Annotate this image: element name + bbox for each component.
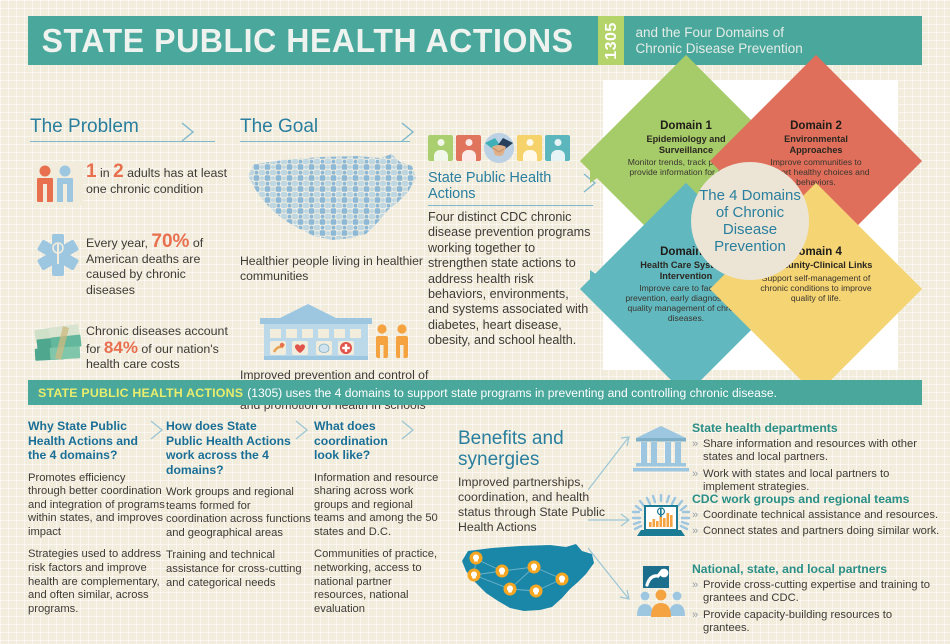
- arrow-right-icon: [400, 121, 416, 143]
- two-people-icon: [30, 162, 86, 206]
- benefits-title-line1: Benefits and: [458, 428, 608, 449]
- partner-1-title: State health departments: [692, 421, 940, 435]
- summary-banner: STATE PUBLIC HEALTH ACTIONS (1305) uses …: [28, 380, 922, 405]
- partners-people-icon: [630, 562, 692, 639]
- page-title: STATE PUBLIC HEALTH ACTIONS: [28, 16, 574, 65]
- stat-text-3: Chronic diseases account for 84% of our …: [86, 322, 230, 373]
- question-1-title: Why State Public Health Actions and the …: [28, 419, 146, 463]
- section-the-goal: The Goal: [240, 116, 430, 413]
- four-domains-diagram: Domain 1 Epidemiology and Surveillance M…: [603, 80, 898, 370]
- banner-strong-text: STATE PUBLIC HEALTH ACTIONS: [38, 386, 243, 400]
- school-building-icon: [240, 300, 430, 362]
- spha-people-icons: [428, 133, 593, 163]
- question-column-3: What does coordination look like? Inform…: [314, 419, 444, 616]
- partner-1-item-1: Share information and resources with oth…: [692, 438, 940, 465]
- stat-row: Every year, 70% of American deaths are c…: [30, 232, 230, 298]
- partner-block-national-state-local: National, state, and local partners Prov…: [630, 562, 940, 639]
- the-goal-title: The Goal: [240, 116, 410, 142]
- question-3-para-2: Communities of practice, networking, acc…: [314, 548, 444, 616]
- stat-1-mid: in: [97, 166, 114, 180]
- stat-3-number: 84%: [104, 338, 138, 357]
- question-column-2: How does State Public Health Actions wor…: [166, 419, 314, 590]
- question-1-para-2: Strategies used to address risk factors …: [28, 548, 166, 616]
- header-subtitle-line2: Chronic Disease Prevention: [635, 41, 802, 57]
- question-3-title: What does coordination look like?: [314, 419, 400, 463]
- arrow-right-icon: [149, 419, 165, 441]
- section-the-problem: The Problem 1 in 2 adults has at least o…: [30, 116, 230, 373]
- arrow-right-icon: [294, 419, 310, 441]
- person-icon-teal: [545, 135, 570, 161]
- bank-building-icon: [630, 421, 692, 498]
- question-2-para-2: Training and technical assistance for cr…: [166, 549, 314, 590]
- question-column-1: Why State Public Health Actions and the …: [28, 419, 166, 616]
- domain-4-desc: Support self-management of chronic condi…: [757, 273, 875, 303]
- question-2-title: How does State Public Health Actions wor…: [166, 419, 294, 477]
- arrow-right-icon: [400, 419, 416, 441]
- domain-1-name: Domain 1: [660, 120, 712, 132]
- domain-2-name: Domain 2: [790, 120, 842, 132]
- question-2-para-1: Work groups and regional teams formed fo…: [166, 486, 314, 540]
- benefits-title-line2: synergies: [458, 449, 608, 470]
- partner-block-cdc-work-groups: CDC work groups and regional teams Coord…: [630, 492, 940, 546]
- stat-1-number-2: 2: [113, 161, 124, 182]
- badge-1305-label: 1305: [602, 22, 620, 60]
- stat-row: Chronic diseases account for 84% of our …: [30, 322, 230, 373]
- partner-block-state-health-departments: State health departments Share informati…: [630, 421, 940, 498]
- partner-3-title: National, state, and local partners: [692, 562, 940, 576]
- goal-map-caption: Healthier people living in healthier com…: [240, 254, 430, 284]
- handshake-icon: [484, 133, 514, 163]
- arrow-right-icon: [180, 121, 196, 143]
- section-benefits-synergies: Benefits and synergies Improved partners…: [458, 428, 608, 617]
- usa-network-map-icon: [458, 541, 608, 617]
- laptop-chart-icon: [630, 492, 692, 546]
- person-icon-red: [456, 135, 481, 161]
- spha-title: State Public Health Actions: [428, 170, 593, 206]
- question-3-para-1: Information and resource sharing across …: [314, 472, 444, 540]
- person-icon-green: [428, 135, 453, 161]
- diagram-center-label: The 4 Domains of Chronic Disease Prevent…: [691, 162, 809, 280]
- partner-2-item-1: Coordinate technical assistance and reso…: [692, 509, 940, 522]
- header-subtitle: and the Four Domains of Chronic Disease …: [624, 25, 802, 57]
- domain-2-subtitle: Environmental Approaches: [766, 134, 866, 155]
- stat-text-1: 1 in 2 adults has at least one chronic c…: [86, 162, 230, 197]
- person-icon-yellow: [517, 135, 542, 161]
- medical-star-icon: [30, 232, 86, 278]
- money-stack-icon: [30, 322, 86, 366]
- stat-2-number: 70%: [151, 231, 189, 252]
- benefits-body: Improved partnerships, coordination, and…: [458, 475, 608, 535]
- badge-1305: 1305: [598, 16, 624, 65]
- stat-text-2: Every year, 70% of American deaths are c…: [86, 232, 230, 298]
- partner-3-item-1: Provide cross-cutting expertise and trai…: [692, 579, 940, 606]
- stat-1-number-1: 1: [86, 161, 97, 182]
- header-bar: STATE PUBLIC HEALTH ACTIONS 1305 and the…: [28, 16, 922, 65]
- header-subtitle-line1: and the Four Domains of: [635, 25, 802, 41]
- question-1-para-1: Promotes efficiency through better coord…: [28, 472, 166, 540]
- stat-2-prefix: Every year,: [86, 236, 151, 250]
- partner-1-item-2: Work with states and local partners to i…: [692, 468, 940, 495]
- partner-3-item-2: Provide capacity-building resources to g…: [692, 609, 940, 636]
- partner-2-title: CDC work groups and regional teams: [692, 492, 940, 506]
- spha-body: Four distinct CDC chronic disease preven…: [428, 210, 593, 349]
- partner-2-item-2: Connect states and partners doing simila…: [692, 525, 940, 538]
- banner-rest-text: (1305) uses the 4 domains to support sta…: [247, 386, 777, 400]
- stat-row: 1 in 2 adults has at least one chronic c…: [30, 162, 230, 206]
- section-state-public-health-actions: State Public Health Actions Four distinc…: [428, 133, 593, 349]
- usa-people-map-icon: [240, 148, 430, 248]
